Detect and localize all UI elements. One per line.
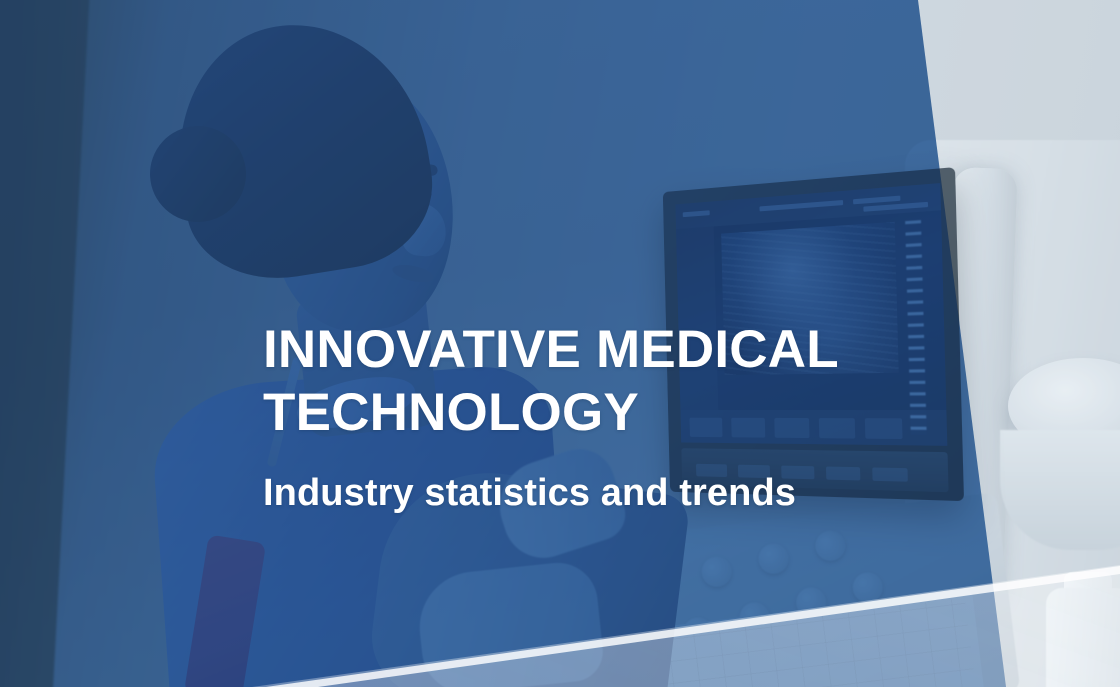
- banner-copy: INNOVATIVE MEDICAL TECHNOLOGY Industry s…: [263, 318, 903, 514]
- hero-banner: INNOVATIVE MEDICAL TECHNOLOGY Industry s…: [0, 0, 1120, 687]
- banner-headline: INNOVATIVE MEDICAL TECHNOLOGY: [263, 318, 903, 444]
- banner-subheadline: Industry statistics and trends: [263, 472, 903, 514]
